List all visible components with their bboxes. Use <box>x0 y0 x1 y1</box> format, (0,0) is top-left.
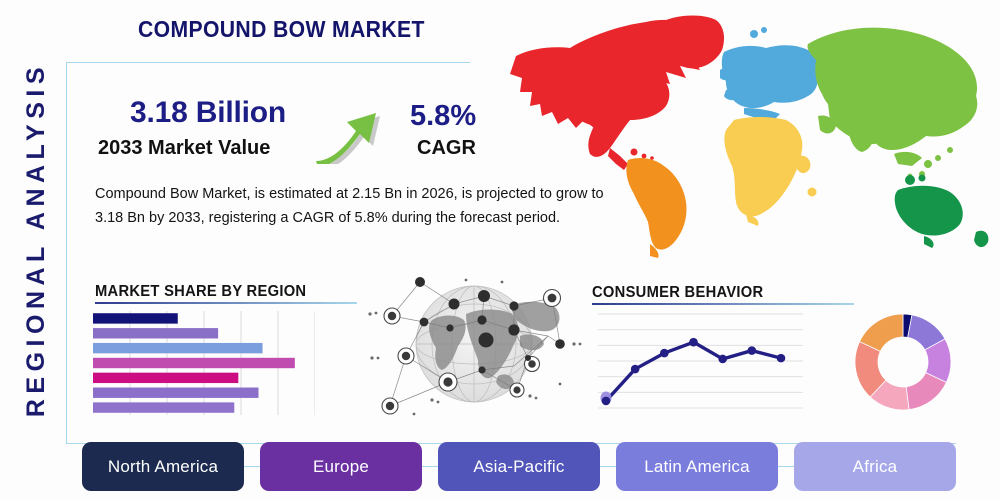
side-label-text: REGIONAL ANALYSIS <box>22 62 51 417</box>
pill-connector <box>244 466 260 468</box>
cagr-number: 5.8% <box>410 100 476 133</box>
region-pill-label: Africa <box>853 457 898 477</box>
world-map-icon <box>498 8 998 263</box>
pill-connector <box>778 466 794 468</box>
page-title: COMPOUND BOW MARKET <box>138 16 425 43</box>
infographic-canvas: REGIONAL ANALYSIS COMPOUND BOW MARKET 3.… <box>0 0 1000 500</box>
region-pill-asia-pacific[interactable]: Asia-Pacific <box>438 442 600 491</box>
region-pill-north-america[interactable]: North America <box>82 442 244 491</box>
pill-connector <box>422 466 438 468</box>
section-title-market-share: MARKET SHARE BY REGION <box>95 283 306 301</box>
region-pill-label: Latin America <box>644 457 750 477</box>
region-pill-europe[interactable]: Europe <box>260 442 422 491</box>
region-legend-row: North America Europe Asia-Pacific Latin … <box>82 442 956 491</box>
section-title-consumer-behavior: CONSUMER BEHAVIOR <box>592 284 763 302</box>
pill-connector <box>600 466 616 468</box>
region-distribution-donut-chart <box>849 308 957 416</box>
side-label: REGIONAL ANALYSIS <box>8 60 64 420</box>
market-share-bar-chart <box>93 311 315 415</box>
consumer-behavior-line-chart <box>598 308 803 416</box>
section-rule-market-share <box>95 302 357 304</box>
market-value-number: 3.18 Billion <box>130 96 286 130</box>
cagr-label: CAGR <box>417 137 476 160</box>
region-pill-label: North America <box>108 457 218 477</box>
region-pill-label: Asia-Pacific <box>473 457 564 477</box>
region-pill-latin-america[interactable]: Latin America <box>616 442 778 491</box>
global-network-globe-icon <box>362 266 590 424</box>
up-trend-arrow-icon <box>312 86 404 164</box>
region-pill-africa[interactable]: Africa <box>794 442 956 491</box>
section-rule-consumer-behavior <box>592 303 854 305</box>
market-value-label: 2033 Market Value <box>98 137 270 160</box>
region-pill-label: Europe <box>313 457 369 477</box>
